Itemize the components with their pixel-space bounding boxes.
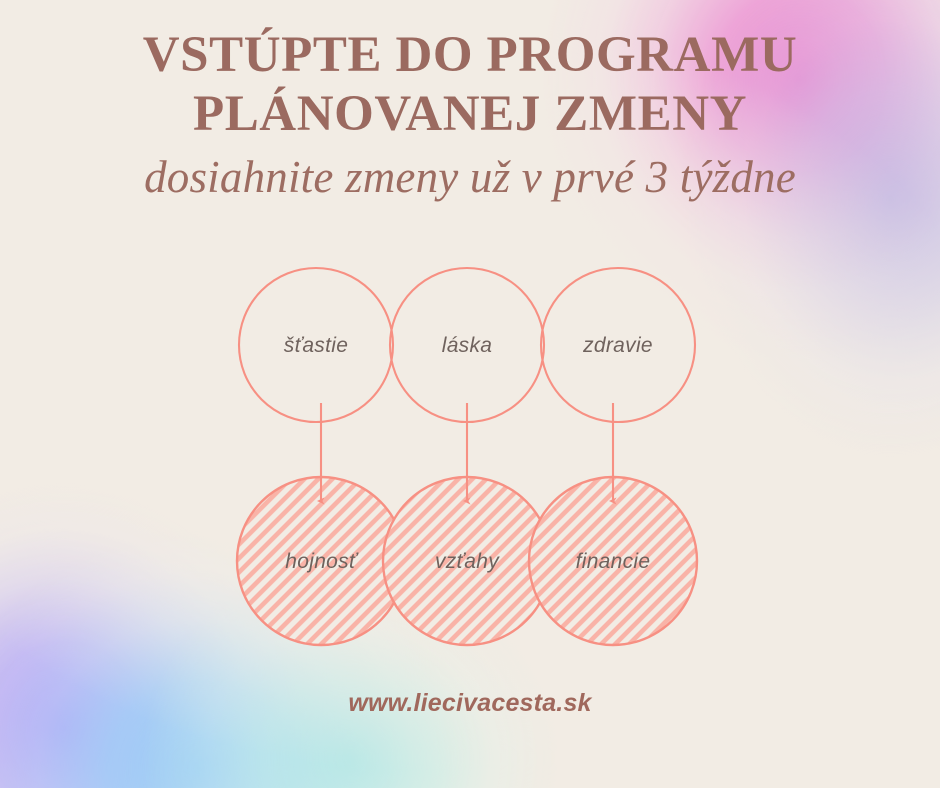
website-url[interactable]: www.liecivacesta.sk [0,689,940,718]
top-circle-label-stastie: šťastie [284,334,348,357]
top-circle-label-laska: láska [442,334,493,357]
headline-block: VSTÚPTE DO PROGRAMU PLÁNOVANEJ ZMENY dos… [0,26,940,208]
top-circle-group-zdravie[interactable]: zdravie [541,268,695,422]
poster-canvas: VSTÚPTE DO PROGRAMU PLÁNOVANEJ ZMENY dos… [0,0,940,788]
bottom-circle-group-financie[interactable]: financie [529,477,697,645]
bottom-circle-group-vztahy[interactable]: vzťahy [383,477,551,645]
headline-line-2: PLÁNOVANEJ ZMENY [0,85,940,144]
poster-content: VSTÚPTE DO PROGRAMU PLÁNOVANEJ ZMENY dos… [0,0,940,788]
bottom-circle-label-vztahy: vzťahy [435,550,500,573]
bottom-circle-label-hojnost: hojnosť [285,550,359,573]
top-circle-label-zdravie: zdravie [582,334,653,357]
top-circle-group-laska[interactable]: láska [390,268,544,422]
bottom-circle-label-financie: financie [576,550,651,573]
top-circle-group-stastie[interactable]: šťastie [239,268,393,422]
venn-diagram-svg: hojnosť vzťahy financie šťastie lá [0,248,940,658]
headline-subtitle: dosiahnite zmeny už v prvé 3 týždne [0,146,940,208]
venn-diagram: hojnosť vzťahy financie šťastie lá [0,248,940,658]
bottom-circle-group-hojnost[interactable]: hojnosť [237,477,405,645]
headline-line-1: VSTÚPTE DO PROGRAMU [0,26,940,85]
